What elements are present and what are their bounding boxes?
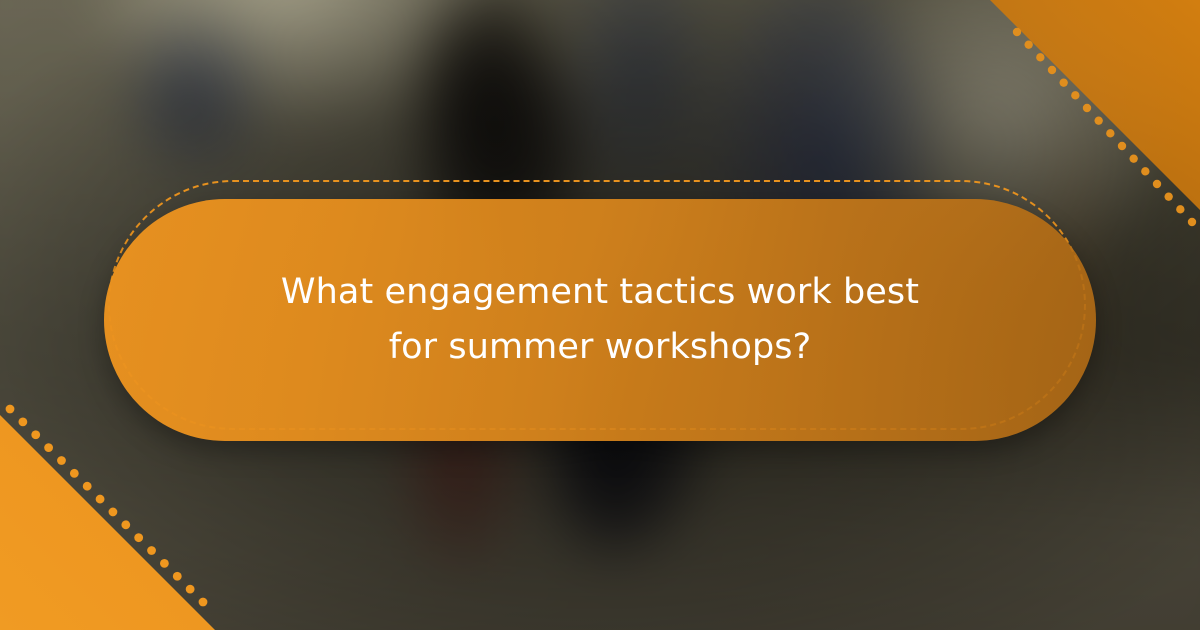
quote-card-body: What engagement tactics work best for su… (104, 199, 1096, 441)
quote-card-graphic: What engagement tactics work best for su… (0, 0, 1200, 630)
quote-question-text: What engagement tactics work best for su… (260, 265, 940, 376)
quote-card: What engagement tactics work best for su… (100, 180, 1100, 442)
